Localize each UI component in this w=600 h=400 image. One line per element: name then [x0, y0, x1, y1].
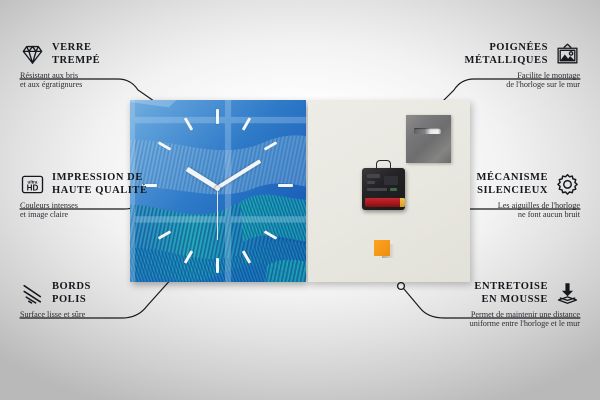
feature-title: MÉCANISME SILENCIEUX — [477, 172, 548, 197]
feature-heading: BORDS POLIS — [20, 281, 180, 306]
feature-heading: ultra HD IMPRESSION DE HAUTE QUALITÉ — [20, 172, 195, 197]
polished-edge-icon — [20, 281, 45, 306]
feature-title-line1: POIGNÉES — [465, 42, 548, 55]
feature-title: VERRE TREMPÉ — [52, 42, 100, 67]
foam-spacer-arrow-icon — [555, 281, 580, 306]
feature-bords-polis[interactable]: BORDS POLIS Surface lisse et sûre — [20, 281, 180, 319]
ultra-hd-icon: ultra HD — [20, 172, 45, 197]
feature-description: Les aiguilles de l'horloge ne font aucun… — [390, 197, 580, 220]
feature-description: Facilite le montage de l'horloge sur le … — [390, 67, 580, 90]
feature-title-line2: TREMPÉ — [52, 55, 100, 68]
feature-desc-line1: Permet de maintenir une distance — [365, 310, 580, 320]
gear-icon — [555, 172, 580, 197]
hanger-keyhole-slot — [414, 128, 441, 134]
ultra-hd-icon-big-label: HD — [27, 183, 39, 192]
feature-title-line2: POLIS — [52, 294, 91, 307]
feature-title: BORDS POLIS — [52, 281, 91, 306]
center-cap — [215, 186, 220, 191]
infographic-canvas: VERRE TREMPÉ Résistant aux bris et aux é… — [0, 0, 600, 400]
hour-tick-6 — [216, 258, 219, 273]
movement-detail-2 — [367, 181, 375, 184]
feature-title-line2: EN MOUSSE — [474, 294, 548, 307]
feature-description: Surface lisse et sûre — [20, 306, 180, 319]
feature-heading: POIGNÉES MÉTALLIQUES — [390, 42, 580, 67]
feature-description: Permet de maintenir une distance uniform… — [365, 306, 580, 329]
feature-title: IMPRESSION DE HAUTE QUALITÉ — [52, 172, 148, 197]
feature-desc-line1: Surface lisse et sûre — [20, 310, 180, 320]
feature-description: Résistant aux bris et aux égratignures — [20, 67, 180, 90]
feature-heading: MÉCANISME SILENCIEUX — [390, 172, 580, 197]
feature-desc-line2: et aux égratignures — [20, 80, 180, 90]
feature-heading: ENTRETOISE EN MOUSSE — [365, 281, 580, 306]
feature-desc-line1: Les aiguilles de l'horloge — [390, 201, 580, 211]
second-hand — [217, 188, 218, 240]
feature-description: Couleurs intenses et image claire — [20, 197, 195, 220]
feature-heading: VERRE TREMPÉ — [20, 42, 180, 67]
feature-title-line1: VERRE — [52, 42, 100, 55]
movement-detail-1 — [367, 174, 380, 178]
feature-title-line2: HAUTE QUALITÉ — [52, 185, 148, 198]
feature-desc-line2: ne font aucun bruit — [390, 210, 580, 220]
feature-title: ENTRETOISE EN MOUSSE — [474, 281, 548, 306]
movement-detail-4 — [367, 188, 387, 191]
diamond-icon — [20, 42, 45, 67]
feature-entretoise-mousse[interactable]: ENTRETOISE EN MOUSSE Permet de maintenir… — [365, 281, 580, 329]
picture-frame-hanger-icon — [555, 42, 580, 67]
hour-tick-12 — [216, 109, 219, 124]
feature-verre-trempe[interactable]: VERRE TREMPÉ Résistant aux bris et aux é… — [20, 42, 180, 90]
feature-title-line1: ENTRETOISE — [474, 281, 548, 294]
feature-poignees-metalliques[interactable]: POIGNÉES MÉTALLIQUES Facilite le montage… — [390, 42, 580, 90]
feature-title-line2: MÉTALLIQUES — [465, 55, 548, 68]
foam-spacer — [374, 240, 390, 256]
feature-desc-line2: de l'horloge sur le mur — [390, 80, 580, 90]
feature-title-line1: BORDS — [52, 281, 91, 294]
movement-hanging-loop — [376, 160, 391, 170]
feature-desc-line1: Couleurs intenses — [20, 201, 195, 211]
hour-tick-3 — [278, 184, 293, 187]
feature-desc-line2: uniforme entre l'horloge et le mur — [365, 319, 580, 329]
feature-impression-hd[interactable]: ultra HD IMPRESSION DE HAUTE QUALITÉ Cou… — [20, 172, 195, 220]
feature-desc-line1: Résistant aux bris — [20, 71, 180, 81]
feature-title-line1: IMPRESSION DE — [52, 172, 148, 185]
feature-mecanisme-silencieux[interactable]: MÉCANISME SILENCIEUX Les aiguilles de l'… — [390, 172, 580, 220]
feature-desc-line2: et image claire — [20, 210, 195, 220]
feature-desc-line1: Facilite le montage — [390, 71, 580, 81]
feature-title: POIGNÉES MÉTALLIQUES — [465, 42, 548, 67]
metal-hanger-plate — [406, 115, 451, 163]
feature-title-line2: SILENCIEUX — [477, 185, 548, 198]
feature-title-line1: MÉCANISME — [477, 172, 548, 185]
